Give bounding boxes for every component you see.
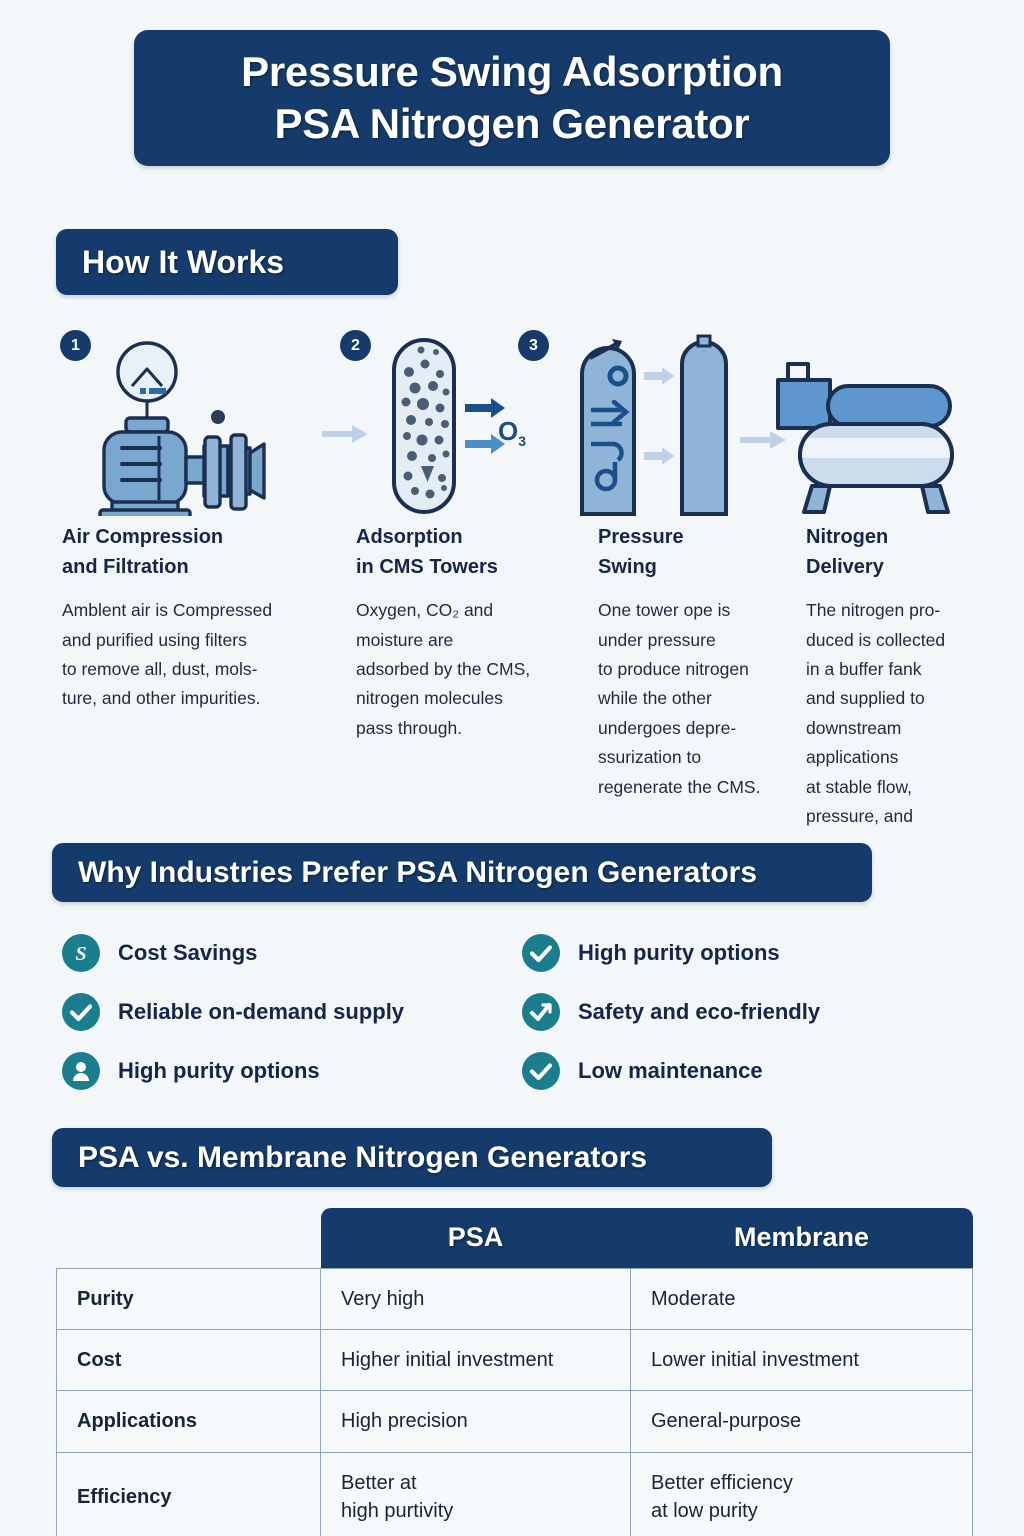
comparison-table: PSA Membrane Purity Very high Moderate C… [56, 1208, 973, 1536]
comparison-table-wrapper: PSA Membrane Purity Very high Moderate C… [56, 1208, 972, 1536]
section-heading-psa-vs-membrane: PSA vs. Membrane Nitrogen Generators [52, 1128, 772, 1187]
benefit-item-low-maintenance: Low maintenance [522, 1052, 763, 1090]
cell-membrane: General-purpose [631, 1391, 973, 1452]
step-1-text: Air Compression and Filtration Amblent a… [62, 523, 334, 714]
step-1-title: Air Compression and Filtration [62, 523, 334, 582]
benefit-item-safety-eco: Safety and eco-friendly [522, 993, 820, 1031]
benefit-item-reliable-supply: Reliable on-demand supply [62, 993, 404, 1031]
check-icon [522, 934, 560, 972]
person-icon [62, 1052, 100, 1090]
step-4-body: The nitrogen pro- duced is collected in … [806, 596, 996, 831]
cell-psa: Very high [321, 1268, 631, 1329]
section-heading-why-prefer: Why Industries Prefer PSA Nitrogen Gener… [52, 843, 872, 902]
title-line-1: Pressure Swing Adsorption [241, 47, 783, 97]
table-row: Cost Higher initial investment Lower ini… [57, 1329, 973, 1390]
step-2-title: Adsorption in CMS Towers [356, 523, 586, 582]
cell-membrane: Better efficiency at low purity [631, 1452, 973, 1536]
table-header-psa: PSA [321, 1208, 631, 1268]
benefit-label: Low maintenance [578, 1058, 763, 1084]
letter-s-icon: S [62, 934, 100, 972]
benefit-label: Reliable on-demand supply [118, 999, 404, 1025]
row-label: Applications [57, 1391, 321, 1452]
step-2-body: Oxygen, CO₂ and moisture are adsorbed by… [356, 596, 586, 743]
step-4-text: Nitrogen Delivery The nitrogen pro- duce… [806, 523, 996, 831]
benefit-item-cost-savings: S Cost Savings [62, 934, 257, 972]
cell-psa: High precision [321, 1391, 631, 1452]
molecule-subscript: 3 [518, 433, 526, 449]
benefit-item-high-purity-right: High purity options [522, 934, 780, 972]
row-label: Purity [57, 1268, 321, 1329]
benefit-label: High purity options [578, 940, 780, 966]
row-label: Cost [57, 1329, 321, 1390]
pressure-swing-towers-icon [578, 334, 738, 518]
cell-membrane: Moderate [631, 1268, 973, 1329]
table-row: Efficiency Better at high purtivity Bett… [57, 1452, 973, 1536]
benefit-item-high-purity-left: High purity options [62, 1052, 320, 1090]
benefit-label: Cost Savings [118, 940, 257, 966]
cell-psa: Higher initial investment [321, 1329, 631, 1390]
table-row: Applications High precision General-purp… [57, 1391, 973, 1452]
step-1-body: Amblent air is Compressed and purified u… [62, 596, 334, 714]
molecule-label: O3 [498, 416, 526, 449]
section-heading-how-it-works: How It Works [56, 229, 398, 295]
benefit-label: High purity options [118, 1058, 320, 1084]
infographic-page: Pressure Swing Adsorption PSA Nitrogen G… [0, 0, 1024, 1536]
benefits-list: S Cost Savings Reliable on-demand supply… [0, 928, 1024, 1108]
step-2-text: Adsorption in CMS Towers Oxygen, CO₂ and… [356, 523, 586, 743]
table-header-blank [57, 1208, 321, 1268]
how-it-works-steps: 1 2 3 [0, 318, 1024, 838]
flow-arrow-1-icon [322, 422, 370, 446]
check-arrow-icon [522, 993, 560, 1031]
air-compressor-icon [86, 336, 316, 516]
step-badge-3: 3 [518, 330, 549, 361]
cell-psa: Better at high purtivity [321, 1452, 631, 1536]
table-header-membrane: Membrane [631, 1208, 973, 1268]
step-3-title: Pressure Swing [598, 523, 798, 582]
table-header-row: PSA Membrane [57, 1208, 973, 1268]
step-3-text: Pressure Swing One tower ope is under pr… [598, 523, 798, 802]
title-line-2: PSA Nitrogen Generator [275, 99, 750, 149]
table-row: Purity Very high Moderate [57, 1268, 973, 1329]
step-4-title: Nitrogen Delivery [806, 523, 996, 582]
row-label: Efficiency [57, 1452, 321, 1536]
cell-membrane: Lower initial investment [631, 1329, 973, 1390]
step-badge-2: 2 [340, 330, 371, 361]
cms-tower-icon [390, 336, 470, 516]
check-icon [522, 1052, 560, 1090]
step-3-body: One tower ope is under pressure to produ… [598, 596, 798, 802]
svg-text:S: S [75, 943, 86, 965]
check-icon [62, 993, 100, 1031]
page-title: Pressure Swing Adsorption PSA Nitrogen G… [134, 30, 890, 166]
nitrogen-buffer-tank-icon [772, 342, 988, 518]
benefit-label: Safety and eco-friendly [578, 999, 820, 1025]
